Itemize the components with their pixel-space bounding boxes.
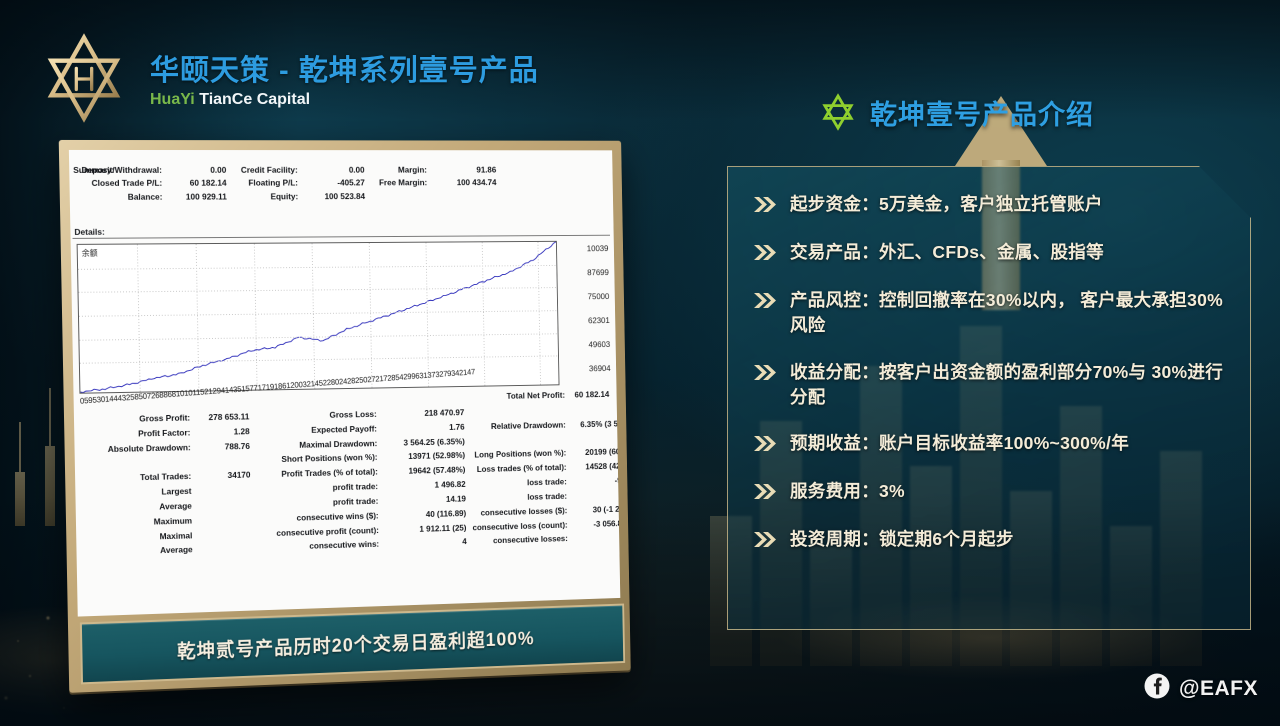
stat-value: 1 496.82 bbox=[383, 478, 466, 492]
stat-value: 19642 (57.48%) bbox=[382, 464, 465, 478]
y-tick: 87699 bbox=[587, 266, 609, 278]
bullet-text: 投资周期：锁定期6个月起步 bbox=[790, 527, 1014, 552]
brand-subtitle: HuaYi TianCe Capital bbox=[150, 91, 539, 109]
stat-value: 3 564.25 (6.35%) bbox=[382, 435, 465, 449]
star-of-david-green-icon bbox=[818, 92, 858, 132]
summary-key: Free Margin: bbox=[369, 177, 428, 189]
summary-key: Deposit/Withdrawal: bbox=[75, 164, 162, 176]
stat-key: consecutive losses: bbox=[471, 533, 568, 548]
stat-key: Short Positions (won %): bbox=[255, 451, 378, 466]
stat-key: Maximal bbox=[82, 529, 192, 544]
summary-value: 0.00 bbox=[166, 164, 227, 176]
summary-key: Margin: bbox=[368, 164, 427, 176]
product-bullet-list: 起步资金：5万美金，客户独立托管账户 交易产品：外汇、CFDs、金属、股指等 产… bbox=[752, 192, 1230, 575]
y-tick: 10039 bbox=[587, 242, 609, 254]
page-title: 华颐天策 - 乾坤系列壹号产品 bbox=[150, 47, 539, 89]
double-chevron-right-icon bbox=[752, 364, 778, 386]
stat-value: 4 bbox=[384, 536, 467, 550]
stat-value: 14.19 bbox=[383, 493, 466, 507]
summary-value bbox=[431, 190, 497, 202]
summary-key: Floating P/L: bbox=[230, 177, 298, 189]
stat-key: Gross Loss: bbox=[254, 408, 377, 422]
stat-value: 1.76 bbox=[382, 421, 465, 435]
brand-subtitle-part2: TianCe Capital bbox=[199, 91, 310, 108]
list-item: 预期收益：账户目标收益率100%~300%/年 bbox=[752, 431, 1230, 457]
summary-value: 100 523.84 bbox=[302, 190, 365, 202]
report-screenshot: Summary: Deposit/Withdrawal: 0.00 Credit… bbox=[69, 150, 620, 617]
stat-key: Maximal Drawdown: bbox=[255, 437, 378, 452]
stat-key: Average bbox=[82, 500, 192, 515]
summary-value: -405.27 bbox=[302, 177, 365, 189]
net-profit-value: 60 182.14 bbox=[574, 389, 609, 399]
summary-value: 100 929.11 bbox=[166, 190, 227, 202]
stat-key: Profit Trades (% of total): bbox=[255, 466, 378, 481]
stat-key: profit trade: bbox=[255, 480, 378, 495]
bullet-text: 服务费用：3% bbox=[790, 479, 905, 504]
stat-value bbox=[197, 507, 251, 508]
stat-key bbox=[81, 465, 191, 468]
summary-value: 91.86 bbox=[431, 164, 497, 176]
summary-grid: Deposit/Withdrawal: 0.00 Credit Facility… bbox=[75, 164, 606, 203]
double-chevron-right-icon bbox=[752, 531, 778, 553]
stat-key bbox=[470, 442, 566, 444]
product-intro-title: 乾坤壹号产品介绍 bbox=[870, 93, 1094, 132]
stat-value: 13971 (52.98%) bbox=[382, 449, 465, 463]
stat-key bbox=[469, 413, 565, 415]
summary-value: 100 434.74 bbox=[431, 177, 497, 189]
stat-key: Relative Drawdown: bbox=[469, 419, 566, 433]
stat-value: 218 470.97 bbox=[381, 406, 464, 420]
bullet-text: 起步资金：5万美金，客户独立托管账户 bbox=[790, 192, 1103, 217]
list-item: 收益分配：按客户出资金额的盈利部分70%与 30%进行分配 bbox=[752, 360, 1230, 410]
y-tick: 62301 bbox=[588, 314, 610, 326]
star-of-david-logo-icon bbox=[36, 30, 132, 126]
double-chevron-right-icon bbox=[752, 483, 778, 505]
summary-key bbox=[369, 190, 428, 202]
stat-key: consecutive losses ($): bbox=[471, 504, 568, 519]
stat-key: loss trade: bbox=[470, 490, 567, 504]
stat-value: -15.04 bbox=[572, 488, 621, 502]
list-item: 起步资金：5万美金，客户独立托管账户 bbox=[752, 192, 1230, 218]
y-tick: 75000 bbox=[588, 290, 610, 302]
double-chevron-right-icon bbox=[752, 196, 778, 218]
stat-value: 788.76 bbox=[195, 440, 250, 453]
report-caption-text: 乾坤贰号产品历时20个交易日盈利超100% bbox=[177, 624, 535, 664]
stat-value bbox=[570, 412, 620, 413]
stat-value bbox=[196, 492, 250, 493]
stat-key: consecutive wins: bbox=[257, 538, 380, 554]
statistics-table: Gross Profit: 278 653.11 Gross Loss: 218… bbox=[80, 404, 614, 562]
double-chevron-right-icon bbox=[752, 292, 778, 314]
details-label: Details: bbox=[74, 226, 105, 238]
summary-key: Closed Trade P/L: bbox=[75, 177, 162, 189]
list-item: 投资周期：锁定期6个月起步 bbox=[752, 527, 1230, 553]
stat-key: profit trade: bbox=[256, 495, 379, 510]
stat-value: 1.28 bbox=[195, 425, 250, 438]
net-profit-label: Total Net Profit: bbox=[507, 390, 566, 401]
stat-key: Gross Profit: bbox=[80, 412, 190, 426]
stat-value: 6.35% (3 564.25) bbox=[570, 417, 620, 430]
summary-value: 0.00 bbox=[301, 164, 364, 176]
y-tick: 36904 bbox=[589, 362, 611, 374]
double-chevron-right-icon bbox=[752, 435, 778, 457]
total-net-profit: Total Net Profit: 60 182.14 bbox=[507, 388, 610, 402]
stat-value: -3 056.85 (11) bbox=[572, 516, 620, 530]
stat-value: -958.04 bbox=[571, 474, 620, 488]
chart-legend: 余额 bbox=[82, 248, 98, 260]
stat-key: Maximum bbox=[82, 514, 192, 529]
stat-value bbox=[196, 463, 250, 464]
list-item: 服务费用：3% bbox=[752, 479, 1230, 505]
facebook-icon[interactable] bbox=[1144, 673, 1170, 704]
stat-value bbox=[571, 440, 621, 442]
stat-value: 20199 (60.60%) bbox=[571, 446, 621, 459]
summary-value: 60 182.14 bbox=[166, 177, 227, 189]
stat-key: Loss trades (% of total): bbox=[470, 461, 567, 475]
bullet-text: 预期收益：账户目标收益率100%~300%/年 bbox=[790, 431, 1129, 456]
stat-value bbox=[197, 536, 251, 538]
trading-report-card: Summary: Deposit/Withdrawal: 0.00 Credit… bbox=[59, 140, 631, 693]
stat-value bbox=[197, 522, 251, 523]
double-chevron-right-icon bbox=[752, 244, 778, 266]
summary-key: Equity: bbox=[231, 190, 299, 202]
summary-key: Credit Facility: bbox=[230, 164, 298, 176]
stat-value: 34170 bbox=[196, 469, 251, 482]
stat-key: consecutive profit (count): bbox=[256, 524, 379, 540]
product-intro-heading: 乾坤壹号产品介绍 bbox=[818, 92, 1094, 132]
stat-key: consecutive wins ($): bbox=[256, 509, 379, 524]
bullet-text: 收益分配：按客户出资金额的盈利部分70%与 30%进行分配 bbox=[790, 360, 1230, 410]
stat-value bbox=[198, 551, 252, 553]
brand-header: 华颐天策 - 乾坤系列壹号产品 HuaYi TianCe Capital bbox=[36, 30, 539, 126]
social-handle: @EAFX bbox=[1179, 677, 1258, 701]
stat-key: Absolute Drawdown: bbox=[80, 441, 190, 456]
stat-value: 278 653.11 bbox=[195, 410, 250, 423]
divider bbox=[73, 235, 610, 239]
stat-value: 40 (116.89) bbox=[383, 507, 466, 521]
brand-subtitle-part1: HuaYi bbox=[150, 91, 199, 108]
chart-y-axis: 10039 87699 75000 62301 49603 36904 bbox=[559, 241, 611, 388]
stat-key: Largest bbox=[81, 485, 191, 500]
bullet-text: 产品风控：控制回撤率在30%以内， 客户最大承担30%风险 bbox=[790, 288, 1230, 338]
stat-key: Total Trades: bbox=[81, 470, 191, 485]
stat-key: Expected Payoff: bbox=[254, 422, 377, 437]
stat-key: Profit Factor: bbox=[80, 426, 190, 441]
social-watermark[interactable]: @EAFX bbox=[1144, 673, 1258, 704]
stat-key: Average bbox=[82, 544, 192, 559]
stat-key: consecutive loss (count): bbox=[471, 518, 568, 533]
list-item: 交易产品：外汇、CFDs、金属、股指等 bbox=[752, 240, 1230, 266]
stat-key: loss trade: bbox=[470, 476, 567, 490]
stat-value: 30 (-1 235.80) bbox=[572, 502, 620, 516]
stat-key: Long Positions (won %): bbox=[470, 447, 567, 461]
summary-key: Balance: bbox=[76, 190, 163, 203]
stat-value: 14528 (42.52%) bbox=[571, 460, 620, 473]
y-tick: 49603 bbox=[588, 338, 610, 350]
list-item: 产品风控：控制回撤率在30%以内， 客户最大承担30%风险 bbox=[752, 288, 1230, 338]
bullet-text: 交易产品：外汇、CFDs、金属、股指等 bbox=[790, 240, 1104, 265]
slide-root: 华颐天策 - 乾坤系列壹号产品 HuaYi TianCe Capital Sum… bbox=[0, 0, 1280, 726]
stat-value: 1 912.11 (25) bbox=[384, 521, 467, 535]
stat-value: 3 bbox=[572, 531, 620, 545]
